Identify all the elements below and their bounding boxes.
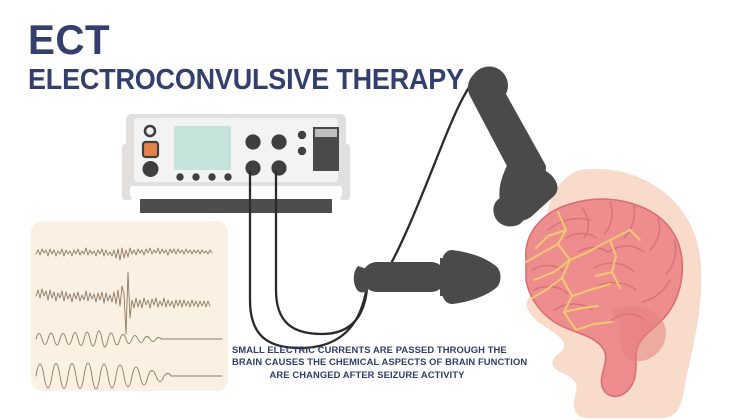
title-block: ECT ELECTROCONVULSIVE THERAPY — [28, 18, 497, 96]
indicator-light — [145, 126, 155, 136]
power-button — [143, 142, 158, 157]
caption-text: SMALL ELECTRIC CURRENTS ARE PASSED THROU… — [232, 344, 502, 381]
soft-button — [208, 173, 215, 180]
patient-head-profile — [462, 160, 730, 420]
page-title: ECT — [28, 18, 478, 62]
caption-line-2: BRAIN CAUSES THE CHEMICAL ASPECTS OF BRA… — [232, 356, 502, 368]
lower-electrode-handle — [362, 262, 446, 292]
ect-infographic: ECT ELECTROCONVULSIVE THERAPY — [0, 0, 730, 420]
machine-base — [140, 199, 332, 213]
caption-line-3: ARE CHANGED AFTER SEIZURE ACTIVITY — [232, 369, 502, 381]
soft-button — [192, 173, 199, 180]
eeg-waveform-panel — [31, 221, 228, 391]
printer-slot — [315, 129, 337, 137]
soft-button — [176, 173, 183, 180]
page-subtitle: ELECTROCONVULSIVE THERAPY — [28, 64, 464, 96]
soft-button — [224, 173, 231, 180]
machine-front-panel — [134, 118, 338, 182]
lower-electrode-strain-relief — [354, 266, 370, 292]
output-port — [245, 134, 260, 149]
status-dot — [298, 131, 306, 139]
ect-stimulus-device — [122, 112, 350, 220]
eeg-trace-4 — [36, 363, 222, 389]
eeg-trace-2 — [36, 272, 210, 334]
eeg-trace-1 — [36, 248, 212, 260]
status-dot — [298, 147, 306, 155]
lower-electrode-neck — [440, 258, 458, 296]
display-screen — [174, 126, 231, 170]
output-port — [271, 134, 286, 149]
machine-underlip — [130, 186, 342, 198]
output-port — [245, 160, 260, 175]
caption-line-1: SMALL ELECTRIC CURRENTS ARE PASSED THROU… — [232, 344, 502, 356]
eeg-trace-3 — [36, 331, 222, 347]
rotary-knob — [143, 161, 159, 177]
output-port — [271, 160, 286, 175]
electrode-cable-c — [378, 80, 474, 286]
